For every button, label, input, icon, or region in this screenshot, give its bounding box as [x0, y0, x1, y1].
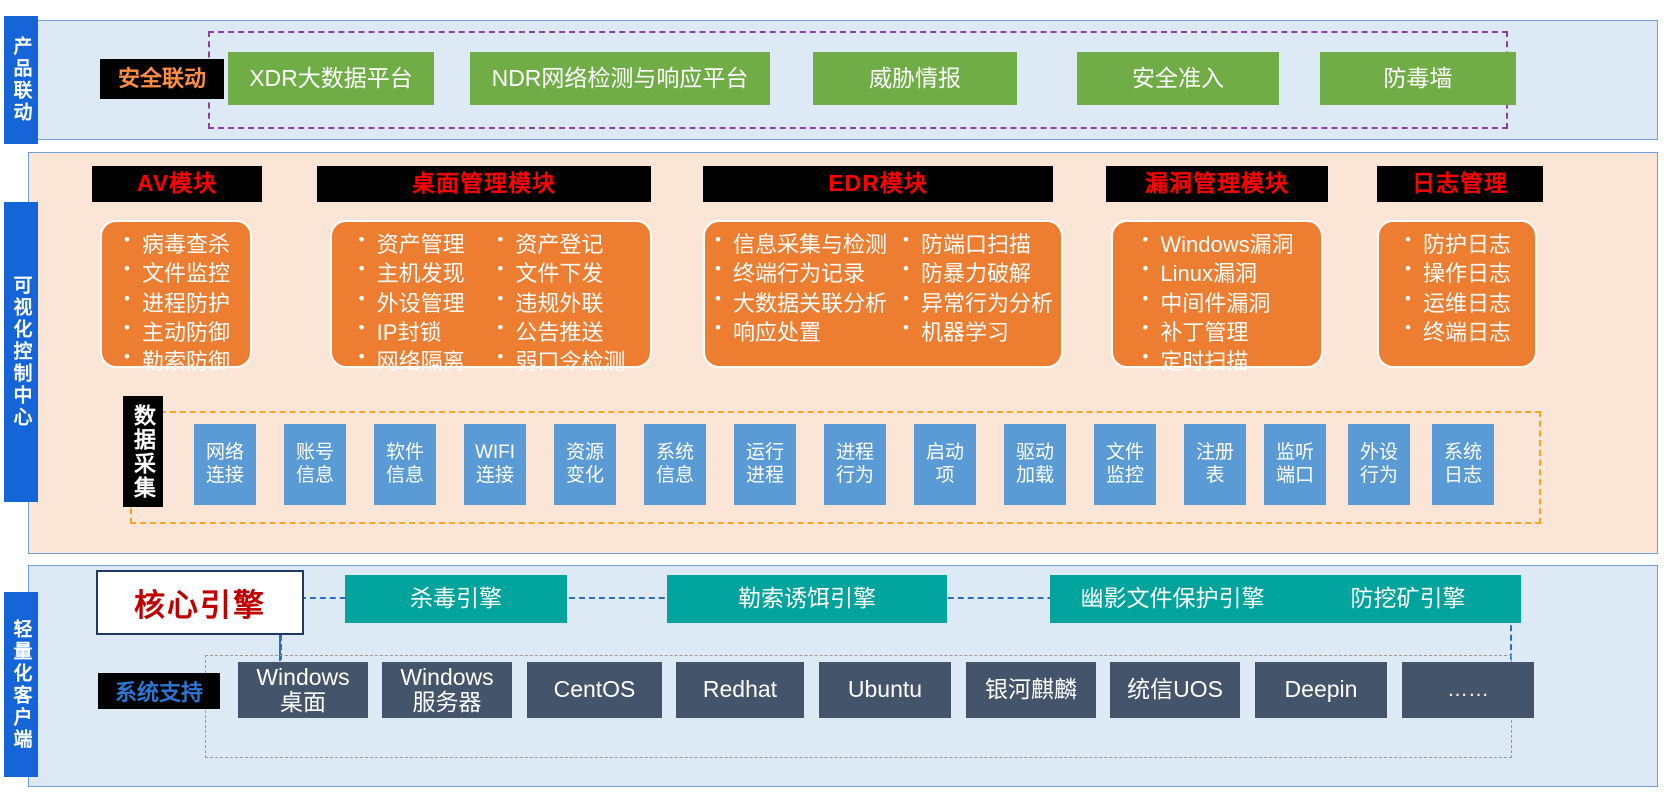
collection-chip-listening-port[interactable]: 监听端口: [1264, 424, 1326, 505]
platform-secure-access-label: 安全准入: [1132, 66, 1224, 92]
list-item: 中间件漏洞: [1140, 289, 1293, 318]
list-item: 防护日志: [1403, 230, 1511, 259]
os-centos[interactable]: CentOS: [527, 662, 662, 718]
module-card-log: 防护日志 操作日志 运维日志 终端日志: [1377, 220, 1537, 368]
collection-chip-file-monitor[interactable]: 文件监控: [1094, 424, 1156, 505]
list-item: 终端日志: [1403, 318, 1511, 347]
list-item: 运维日志: [1403, 289, 1511, 318]
chip-label: 注册表: [1196, 442, 1234, 488]
module-log-list: 防护日志 操作日志 运维日志 终端日志: [1397, 230, 1517, 358]
module-edr-list-right: 防端口扫描 防暴力破解 异常行为分析 机器学习: [895, 230, 1059, 358]
engine-antivirus[interactable]: 杀毒引擎: [345, 575, 567, 623]
chip-label: 软件信息: [386, 442, 424, 488]
engine-label: 防挖矿引擎: [1351, 586, 1466, 612]
module-title-desktop: 桌面管理模块: [317, 166, 651, 202]
module-edr-list-left: 信息采集与检测 终端行为记录 大数据关联分析 响应处置: [707, 230, 893, 358]
collection-chip-process-behavior[interactable]: 进程行为: [824, 424, 886, 505]
platform-secure-access[interactable]: 安全准入: [1077, 52, 1279, 105]
core-engine-box: 核心引擎: [96, 570, 304, 635]
layer-label-product-linkage: 产品联动: [4, 16, 38, 144]
engine-ransom-bait[interactable]: 勒索诱饵引擎: [667, 575, 947, 623]
chip-label: 外设行为: [1360, 442, 1398, 488]
architecture-diagram: 产品联动 安全联动 XDR大数据平台 NDR网络检测与响应平台 威胁情报 安全准…: [0, 0, 1679, 799]
list-item: 弱口令检测: [495, 347, 625, 376]
security-linkage-tag: 安全联动: [100, 59, 224, 99]
os-label: Windows桌面: [256, 665, 349, 716]
chip-label: 文件监控: [1106, 442, 1144, 488]
platform-antivirus-wall[interactable]: 防毒墙: [1320, 52, 1516, 105]
security-linkage-tag-text: 安全联动: [118, 67, 206, 92]
module-av-list: 病毒查杀 文件监控 进程防护 主动防御 勒索防御: [116, 230, 236, 358]
os-redhat[interactable]: Redhat: [676, 662, 804, 718]
chip-label: WIFI连接: [475, 442, 515, 488]
layer-label-text: 产品联动: [8, 36, 35, 124]
list-item: Linux漏洞: [1140, 259, 1293, 288]
layer-label-text: 轻量化客户端: [8, 619, 35, 751]
os-windows-desktop[interactable]: Windows桌面: [238, 662, 368, 718]
os-windows-server[interactable]: Windows服务器: [382, 662, 512, 718]
os-label: ……: [1447, 678, 1489, 701]
list-item: 文件下发: [495, 259, 625, 288]
list-item: 补丁管理: [1140, 318, 1293, 347]
layer-label-client: 轻量化客户端: [4, 592, 38, 777]
list-item: 资产登记: [495, 230, 625, 259]
collection-chip-peripheral[interactable]: 外设行为: [1348, 424, 1410, 505]
module-title-edr: EDR模块: [703, 166, 1053, 202]
collection-chip-startup[interactable]: 启动项: [914, 424, 976, 505]
list-item: 终端行为记录: [713, 259, 887, 288]
engine-label: 勒索诱饵引擎: [738, 586, 876, 612]
os-kylin[interactable]: 银河麒麟: [966, 662, 1096, 718]
module-card-edr: 信息采集与检测 终端行为记录 大数据关联分析 响应处置 防端口扫描 防暴力破解 …: [703, 220, 1063, 368]
chip-label: 运行进程: [746, 442, 784, 488]
engine-label: 幽影文件保护引擎: [1081, 586, 1265, 612]
module-desktop-list-left: 资产管理 主机发现 外设管理 IP封锁 网络隔离: [351, 230, 471, 358]
collection-chip-wifi[interactable]: WIFI连接: [464, 424, 526, 505]
module-title-text: 桌面管理模块: [412, 171, 556, 197]
platform-xdr-label: XDR大数据平台: [249, 66, 413, 92]
os-label: 统信UOS: [1127, 677, 1223, 702]
chip-label: 系统日志: [1444, 442, 1482, 488]
module-title-text: 漏洞管理模块: [1145, 171, 1289, 197]
collection-chip-driver[interactable]: 驱动加载: [1004, 424, 1066, 505]
os-label: Windows服务器: [400, 665, 493, 716]
os-uos[interactable]: 统信UOS: [1110, 662, 1240, 718]
engine-shadow-file-protection[interactable]: 幽影文件保护引擎: [1050, 575, 1295, 623]
platform-threat-intel[interactable]: 威胁情报: [813, 52, 1017, 105]
list-item: 异常行为分析: [901, 289, 1053, 318]
os-label: CentOS: [554, 677, 636, 702]
engine-label: 杀毒引擎: [410, 586, 502, 612]
list-item: 文件监控: [122, 259, 230, 288]
list-item: 网络隔离: [357, 347, 465, 376]
list-item: Windows漏洞: [1140, 230, 1293, 259]
os-label: Ubuntu: [848, 677, 922, 702]
module-title-log: 日志管理: [1377, 166, 1543, 202]
module-card-vuln: Windows漏洞 Linux漏洞 中间件漏洞 补丁管理 定时扫描: [1111, 220, 1323, 368]
os-label: Redhat: [703, 677, 777, 702]
module-title-vuln: 漏洞管理模块: [1106, 166, 1328, 202]
collection-chip-registry[interactable]: 注册表: [1184, 424, 1246, 505]
chip-label: 进程行为: [836, 442, 874, 488]
list-item: 机器学习: [901, 318, 1053, 347]
list-item: 违规外联: [495, 289, 625, 318]
list-item: 勒索防御: [122, 347, 230, 376]
collection-chip-network[interactable]: 网络连接: [194, 424, 256, 505]
collection-chip-running-process[interactable]: 运行进程: [734, 424, 796, 505]
list-item: 公告推送: [495, 318, 625, 347]
list-item: 定时扫描: [1140, 347, 1293, 376]
collection-chip-system-info[interactable]: 系统信息: [644, 424, 706, 505]
list-item: 信息采集与检测: [713, 230, 887, 259]
module-desktop-list-right: 资产登记 文件下发 违规外联 公告推送 弱口令检测: [489, 230, 631, 358]
data-collection-tag: 数据采集: [123, 396, 163, 507]
platform-ndr-label: NDR网络检测与响应平台: [492, 66, 749, 92]
core-engine-label: 核心引擎: [134, 580, 266, 625]
platform-ndr[interactable]: NDR网络检测与响应平台: [470, 52, 770, 105]
chip-label: 系统信息: [656, 442, 694, 488]
list-item: 大数据关联分析: [713, 289, 887, 318]
platform-xdr[interactable]: XDR大数据平台: [228, 52, 434, 105]
list-item: 响应处置: [713, 318, 887, 347]
engine-anti-mining[interactable]: 防挖矿引擎: [1295, 575, 1521, 623]
list-item: IP封锁: [357, 318, 465, 347]
chip-label: 网络连接: [206, 442, 244, 488]
module-title-text: AV模块: [137, 171, 217, 197]
layer-label-text: 可视化控制中心: [8, 275, 35, 429]
module-card-desktop: 资产管理 主机发现 外设管理 IP封锁 网络隔离 资产登记 文件下发 违规外联 …: [330, 220, 652, 368]
platform-threat-intel-label: 威胁情报: [869, 66, 961, 92]
os-label: Deepin: [1285, 677, 1358, 702]
os-ubuntu[interactable]: Ubuntu: [819, 662, 951, 718]
list-item: 病毒查杀: [122, 230, 230, 259]
module-vuln-list: Windows漏洞 Linux漏洞 中间件漏洞 补丁管理 定时扫描: [1134, 230, 1299, 358]
chip-label: 监听端口: [1276, 442, 1314, 488]
chip-label: 启动项: [926, 442, 964, 488]
chip-label: 账号信息: [296, 442, 334, 488]
collection-chip-software[interactable]: 软件信息: [374, 424, 436, 505]
platform-antivirus-wall-label: 防毒墙: [1384, 66, 1453, 92]
system-support-tag: 系统支持: [98, 673, 220, 709]
list-item: 防端口扫描: [901, 230, 1053, 259]
chip-label: 驱动加载: [1016, 442, 1054, 488]
os-others[interactable]: ……: [1402, 662, 1534, 718]
list-item: 主动防御: [122, 318, 230, 347]
collection-chip-resource[interactable]: 资源变化: [554, 424, 616, 505]
list-item: 资产管理: [357, 230, 465, 259]
data-collection-tag-text: 数据采集: [127, 404, 159, 500]
system-support-tag-text: 系统支持: [115, 675, 203, 707]
list-item: 外设管理: [357, 289, 465, 318]
list-item: 操作日志: [1403, 259, 1511, 288]
module-title-av: AV模块: [92, 166, 262, 202]
os-label: 银河麒麟: [985, 677, 1077, 702]
list-item: 主机发现: [357, 259, 465, 288]
chip-label: 资源变化: [566, 442, 604, 488]
module-title-text: 日志管理: [1412, 171, 1508, 197]
list-item: 进程防护: [122, 289, 230, 318]
layer-label-control-center: 可视化控制中心: [4, 202, 38, 502]
os-deepin[interactable]: Deepin: [1255, 662, 1387, 718]
collection-chip-system-log[interactable]: 系统日志: [1432, 424, 1494, 505]
list-item: 防暴力破解: [901, 259, 1053, 288]
module-card-av: 病毒查杀 文件监控 进程防护 主动防御 勒索防御: [100, 220, 252, 368]
module-title-text: EDR模块: [828, 171, 928, 197]
collection-chip-account[interactable]: 账号信息: [284, 424, 346, 505]
